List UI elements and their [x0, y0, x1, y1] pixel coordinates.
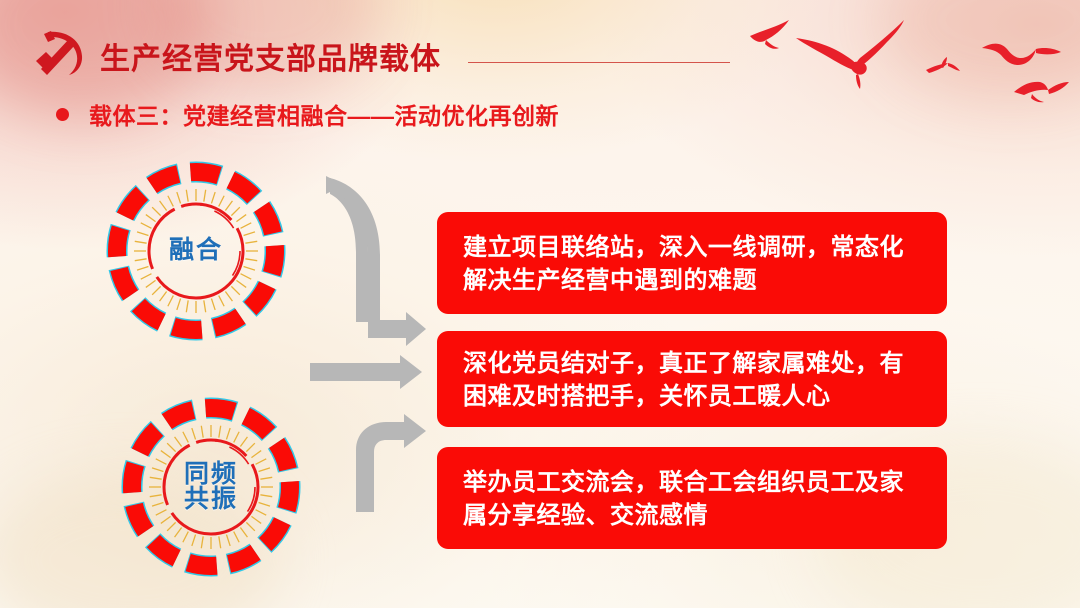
card-liaison-station-text: 建立项目联络站，深入一线调研，常态化解决生产经营中遇到的难题	[463, 231, 925, 297]
slide-header: 生产经营党支部品牌载体	[0, 0, 1080, 96]
resonance-badge-line-2: 共振	[184, 487, 238, 513]
subtitle-text: 载体三：党建经营相融合——活动优化再创新	[89, 97, 559, 131]
flying-birds-icon	[744, 14, 1074, 106]
card-party-member-pairing[interactable]: 深化党员结对子，真正了解家属难处，有困难及时搭把手，关怀员工暖人心	[437, 331, 947, 427]
fusion-badge-line-1: 融合	[169, 238, 223, 264]
resonance-badge-label: 同频 共振	[116, 392, 306, 582]
fusion-badge-label: 融合	[101, 156, 291, 346]
fusion-badge[interactable]: 融合	[101, 156, 291, 346]
title-decoration-rule	[468, 62, 730, 63]
arrow-fusion-to-card-1	[326, 176, 426, 346]
page-title: 生产经营党支部品牌载体	[100, 34, 441, 78]
arrow-resonance-to-card-3	[356, 414, 426, 512]
subtitle-row: 载体三：党建经营相融合——活动优化再创新	[56, 97, 559, 131]
bullet-dot-icon	[56, 108, 69, 121]
party-hammer-sickle-icon	[32, 28, 94, 80]
card-employee-exchange-text: 举办员工交流会，联合工会组织员工及家属分享经验、交流感情	[463, 466, 925, 532]
arrow-straight-to-card-2	[310, 355, 422, 389]
resonance-badge[interactable]: 同频 共振	[116, 392, 306, 582]
resonance-badge-line-1: 同频	[184, 462, 238, 488]
card-employee-exchange[interactable]: 举办员工交流会，联合工会组织员工及家属分享经验、交流感情	[437, 447, 947, 549]
slide-canvas: 生产经营党支部品牌载体	[0, 0, 1080, 608]
card-party-member-pairing-text: 深化党员结对子，真正了解家属难处，有困难及时搭把手，关怀员工暖人心	[463, 347, 925, 413]
card-liaison-station[interactable]: 建立项目联络站，深入一线调研，常态化解决生产经营中遇到的难题	[437, 212, 947, 314]
